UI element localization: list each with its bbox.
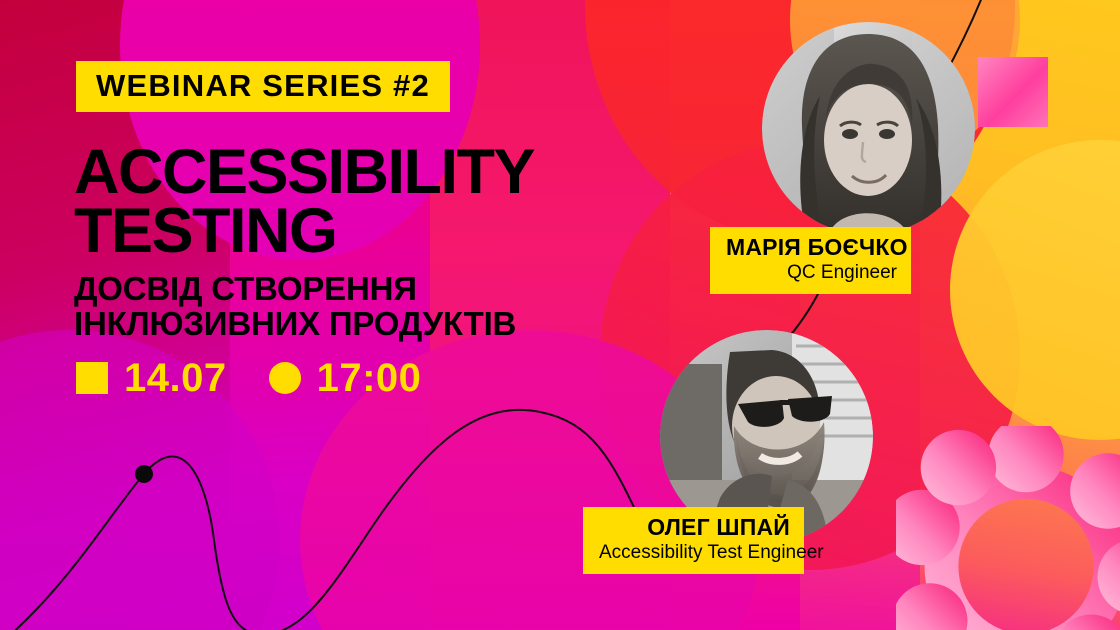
speaker-2-plate: ОЛЕГ ШПАЙ Accessibility Test Engineer	[583, 507, 804, 574]
title-line-2: TESTING	[74, 202, 534, 261]
webinar-series-badge: WEBINAR SERIES #2	[76, 61, 450, 112]
speaker-2-name: ОЛЕГ ШПАЙ	[599, 515, 790, 541]
content-column: WEBINAR SERIES #2 ACCESSIBILITY TESTING …	[0, 0, 680, 630]
event-meta: 14.07 17:00	[76, 358, 421, 398]
square-accent	[978, 57, 1048, 127]
event-date-value: 14.07	[124, 358, 227, 398]
subtitle-line-2: ІНКЛЮЗИВНИХ ПРОДУКТІВ	[74, 307, 516, 342]
speaker-1-photo	[762, 22, 975, 235]
event-time-value: 17:00	[317, 358, 422, 398]
gear-icon	[896, 426, 1120, 630]
speaker-2-role: Accessibility Test Engineer	[599, 541, 790, 565]
speaker-1-plate: МАРІЯ БОЄЧКО QC Engineer	[710, 227, 911, 294]
circle-marker-icon	[269, 362, 301, 394]
event-date: 14.07	[76, 358, 227, 398]
speaker-1-name: МАРІЯ БОЄЧКО	[726, 235, 897, 261]
webinar-promo-banner: WEBINAR SERIES #2 ACCESSIBILITY TESTING …	[0, 0, 1120, 630]
speaker-1-role: QC Engineer	[726, 261, 897, 285]
event-time: 17:00	[269, 358, 422, 398]
subtitle-line-1: ДОСВІД СТВОРЕННЯ	[74, 270, 417, 307]
page-subtitle: ДОСВІД СТВОРЕННЯ ІНКЛЮЗИВНИХ ПРОДУКТІВ	[74, 272, 516, 342]
square-marker-icon	[76, 362, 108, 394]
page-title: ACCESSIBILITY TESTING	[74, 143, 534, 260]
